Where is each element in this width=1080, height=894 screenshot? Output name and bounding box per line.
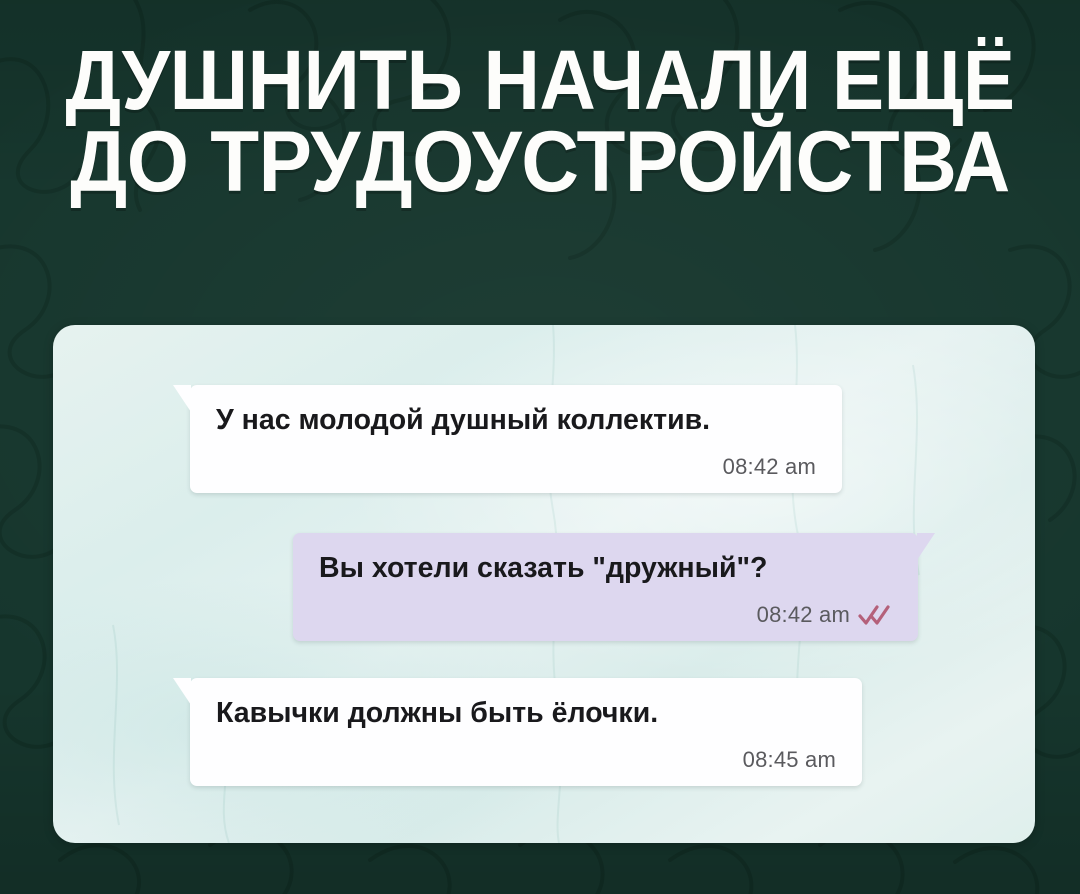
- meme-headline: ДУШНИТЬ НАЧАЛИ ЕЩЁ ДО ТРУДОУСТРОЙСТВА: [38, 40, 1042, 205]
- message-text: Вы хотели сказать "дружный"?: [319, 552, 892, 586]
- chat-message-outgoing-1[interactable]: Вы хотели сказать "дружный"? 08:42 am: [293, 533, 918, 641]
- message-meta: 08:45 am: [216, 747, 836, 773]
- chat-message-incoming-1[interactable]: У нас молодой душный коллектив. 08:42 am: [190, 385, 842, 493]
- headline-line-1: ДУШНИТЬ НАЧАЛИ ЕЩЁ: [38, 40, 1042, 121]
- bubble-tail-left-icon: [173, 678, 191, 705]
- message-meta: 08:42 am: [319, 602, 892, 628]
- message-text: У нас молодой душный коллектив.: [216, 404, 816, 438]
- message-text: Кавычки должны быть ёлочки.: [216, 697, 836, 731]
- message-meta: 08:42 am: [216, 454, 816, 480]
- double-check-icon: [858, 604, 892, 626]
- headline-line-2: ДО ТРУДОУСТРОЙСТВА: [38, 121, 1042, 204]
- bubble-tail-left-icon: [173, 385, 191, 412]
- meme-image: ДУШНИТЬ НАЧАЛИ ЕЩЁ ДО ТРУДОУСТРОЙСТВА У …: [0, 0, 1080, 894]
- message-timestamp: 08:45 am: [743, 747, 836, 773]
- chat-message-incoming-2[interactable]: Кавычки должны быть ёлочки. 08:45 am: [190, 678, 862, 786]
- message-timestamp: 08:42 am: [757, 602, 850, 628]
- chat-screenshot-card: У нас молодой душный коллектив. 08:42 am…: [53, 325, 1035, 843]
- bubble-tail-right-icon: [917, 533, 935, 560]
- message-timestamp: 08:42 am: [723, 454, 816, 480]
